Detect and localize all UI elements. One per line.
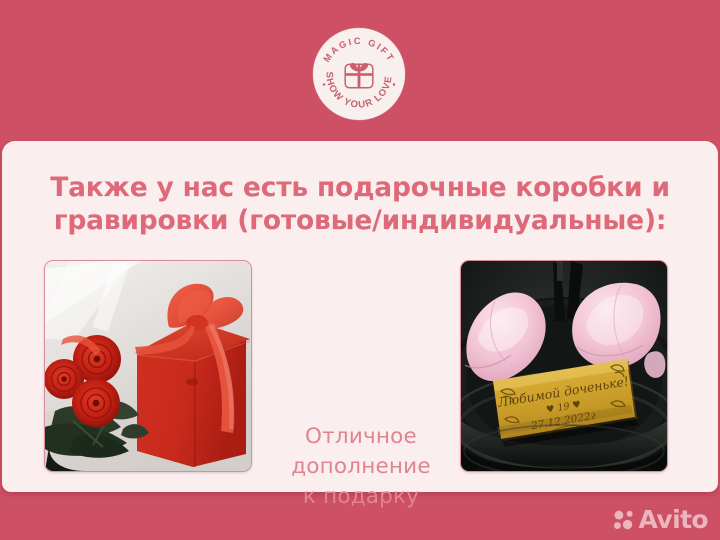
page-title: Также у нас есть подарочные коробки и гр… [26, 171, 694, 237]
center-caption-line-3: к подарку [257, 482, 465, 512]
content-panel: Также у нас есть подарочные коробки и гр… [2, 141, 718, 492]
center-caption: Отличное дополнение к подарку [257, 422, 465, 512]
page-title-line-2: гравировки (готовые/индивидуальные): [26, 204, 694, 237]
advertisement-image: MAGIC GIFT SHOW YOUR LOVE! Также у нас е… [0, 0, 720, 540]
avito-watermark: Avito [612, 507, 708, 532]
gift-box-with-roses-illustration [45, 261, 251, 471]
engraved-plaque-illustration: Любимой доченьке! ♥ 19 ♥ 27.12.2022г [461, 261, 667, 471]
logo-header: MAGIC GIFT SHOW YOUR LOVE! [0, 0, 720, 141]
center-caption-line-1: Отличное [257, 422, 465, 452]
center-caption-line-2: дополнение [257, 452, 465, 482]
avito-label: Avito [639, 507, 708, 532]
gift-box-with-roses-photo [44, 260, 252, 472]
avito-dots-icon [612, 508, 635, 531]
gift-box-icon [344, 58, 374, 89]
page-title-line-1: Также у нас есть подарочные коробки и [26, 171, 694, 204]
photo-row: Отличное дополнение к подарку [2, 260, 718, 472]
engraved-plaque-photo: Любимой доченьке! ♥ 19 ♥ 27.12.2022г [460, 260, 668, 472]
brand-logo-badge: MAGIC GIFT SHOW YOUR LOVE! [313, 28, 405, 120]
